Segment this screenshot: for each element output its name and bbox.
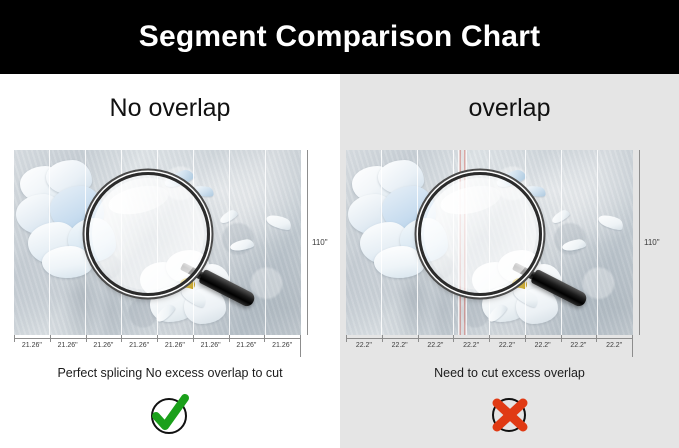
height-ruler-overlap: 110" [635, 150, 671, 335]
segment-label: 21.26" [193, 335, 229, 357]
blue-flower-bloom [348, 160, 456, 278]
segment-label: 22.2" [561, 335, 597, 357]
title-banner: Segment Comparison Chart [0, 0, 679, 74]
segment-label: 22.2" [525, 335, 561, 357]
segment-label: 21.26" [264, 335, 301, 357]
caption-overlap: Need to cut excess overlap [340, 366, 679, 380]
segment-label: 21.26" [157, 335, 193, 357]
blue-flower-bloom [16, 160, 124, 278]
panel-no-overlap: No overlap [0, 74, 340, 448]
height-ruler-no-overlap: 110" [303, 150, 339, 335]
panel-heading-overlap: overlap [340, 94, 679, 123]
comparison-panels: No overlap [0, 74, 679, 448]
check-icon [147, 392, 193, 438]
verdict-no-overlap [0, 392, 340, 438]
segment-label: 21.26" [229, 335, 265, 357]
mural-figure-overlap: 110" 22.2" 22.2" 22.2" 22.2" 22.2" 22.2"… [346, 150, 633, 335]
caption-no-overlap: Perfect splicing No excess overlap to cu… [0, 366, 340, 380]
segment-label: 22.2" [346, 335, 382, 357]
height-label-no-overlap: 110" [312, 238, 328, 247]
segment-ruler-no-overlap: 21.26" 21.26" 21.26" 21.26" 21.26" 21.26… [14, 335, 301, 357]
mural-figure-no-overlap: 110" 21.26" 21.26" 21.26" 21.26" 21.26" … [14, 150, 301, 335]
segment-label: 21.26" [86, 335, 122, 357]
mural-image-overlap [346, 150, 633, 335]
segment-label: 22.2" [382, 335, 418, 357]
segment-label: 22.2" [489, 335, 525, 357]
segment-label: 21.26" [14, 335, 50, 357]
segment-label: 21.26" [50, 335, 86, 357]
panel-overlap: overlap [340, 74, 679, 448]
page-title: Segment Comparison Chart [139, 20, 541, 54]
segment-label: 22.2" [418, 335, 454, 357]
segment-ruler-overlap: 22.2" 22.2" 22.2" 22.2" 22.2" 22.2" 22.2… [346, 335, 633, 357]
panel-heading-no-overlap: No overlap [0, 94, 340, 123]
mural-image-no-overlap [14, 150, 301, 335]
segment-label: 21.26" [121, 335, 157, 357]
segment-label: 22.2" [453, 335, 489, 357]
height-label-overlap: 110" [644, 238, 660, 247]
verdict-overlap [340, 392, 679, 438]
cross-icon [487, 392, 533, 438]
segment-label: 22.2" [596, 335, 633, 357]
